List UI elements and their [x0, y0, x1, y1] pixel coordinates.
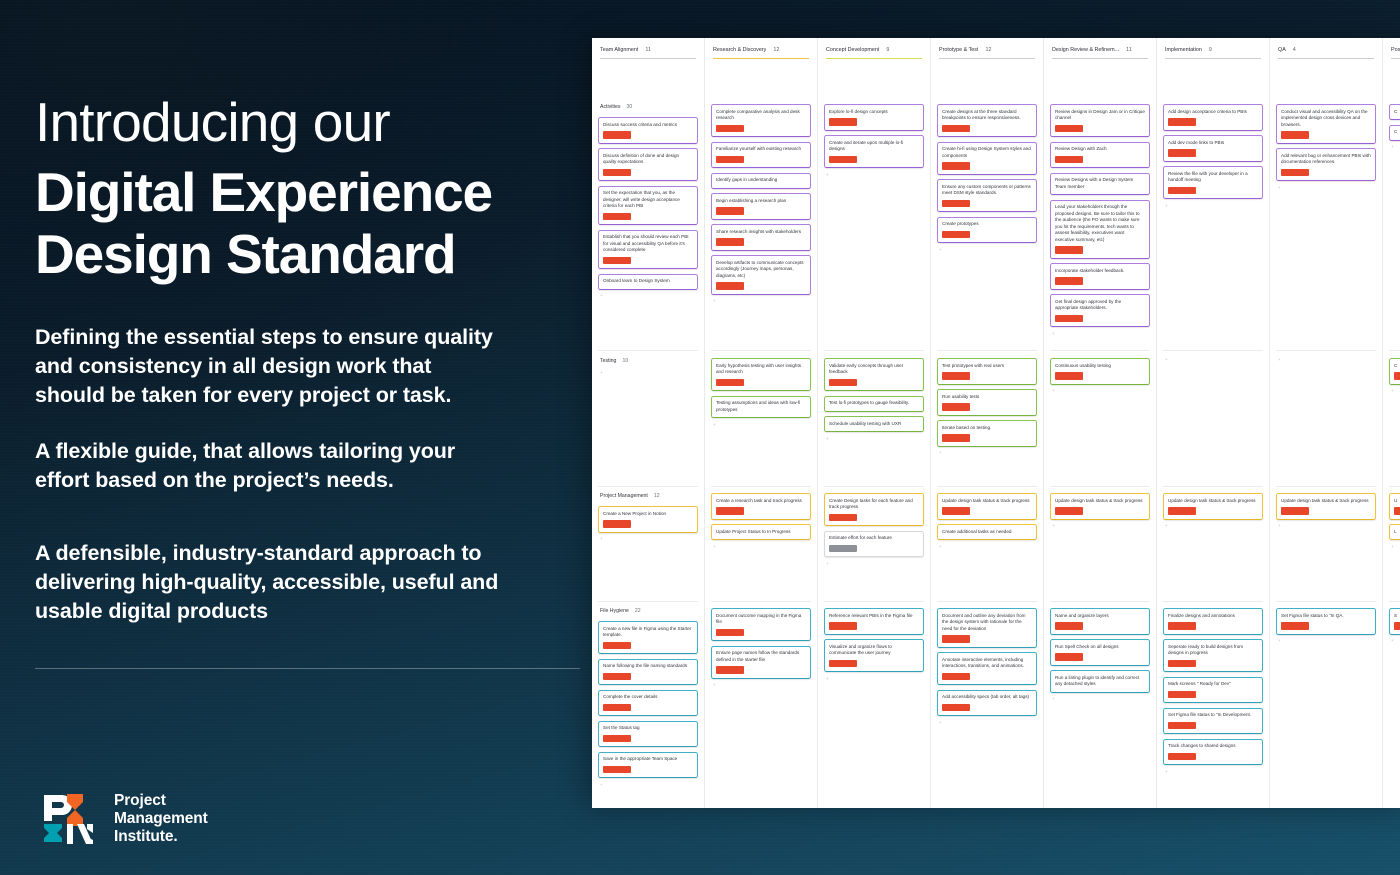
avatar-chip [1281, 507, 1309, 515]
zone-file-hygiene: Document outcome mapping in the Figma fi… [711, 608, 811, 688]
board-column[interactable]: QA4Conduct visual and accessibility QA o… [1270, 38, 1383, 808]
sticky-card[interactable]: Conduct visual and accessibility QA on t… [1276, 104, 1376, 144]
sticky-card[interactable]: Complete comparative analysis and desk r… [711, 104, 811, 137]
zone-project-management: Update design task status & track progre… [1050, 493, 1150, 529]
slide-text-panel: Introducing our Digital Experience Desig… [35, 0, 585, 875]
column-count: 11 [645, 47, 651, 53]
add-card-button[interactable]: + [1050, 524, 1150, 529]
sticky-card[interactable]: Add design acceptance criteria to PBIs [1163, 104, 1263, 131]
board-column[interactable]: Team Alignment11Activities30Discuss succ… [592, 38, 705, 808]
zone-project-management: Update design task status & track progre… [1276, 493, 1376, 529]
sticky-card[interactable]: U [1389, 493, 1400, 520]
avatar-chip [1394, 507, 1400, 515]
sticky-card-text: Set Figma file status to "In Development… [1168, 712, 1258, 719]
sticky-card[interactable]: Iterate based on testing. [937, 420, 1037, 447]
sticky-card-text: Create prototypes [942, 221, 1032, 228]
sticky-card[interactable]: Track changes to shared designs [1163, 739, 1263, 766]
sticky-card[interactable]: Run usability tests [937, 389, 1037, 416]
board-column[interactable]: Research & Discovery12Complete comparati… [705, 38, 818, 808]
add-card-button[interactable]: + [1050, 332, 1150, 337]
zone-activities: Complete comparative analysis and desk r… [711, 104, 811, 304]
sticky-card-text: Run Spell Check on all designs [1055, 644, 1145, 651]
sticky-card[interactable]: C [1389, 125, 1400, 141]
sticky-card[interactable]: Validate early concepts through user fee… [824, 358, 924, 391]
avatar-chip [603, 213, 631, 221]
sticky-card-text: Add relevant bug or enhancement PBIs wit… [1281, 153, 1371, 166]
sticky-card[interactable]: L [1389, 524, 1400, 540]
avatar-chip [1168, 660, 1196, 668]
sticky-card-text: Testing assumptions and ideas with low-f… [716, 400, 806, 413]
column-title: Concept Development [826, 47, 879, 53]
zone-testing: Testing10+ [598, 358, 698, 376]
sticky-card[interactable]: Run a linting plugin to identify and cor… [1050, 670, 1150, 693]
sticky-card[interactable]: Create a New Project in Notion [598, 506, 698, 533]
avatar-chip [603, 766, 631, 774]
sticky-card-text: Complete comparative analysis and desk r… [716, 109, 806, 122]
zone-divider [1389, 601, 1400, 602]
card-list: Explore lo-fi design conceptsCreate and … [824, 104, 924, 168]
sticky-card-text: Lead your stakeholders through the propo… [1055, 204, 1145, 243]
sticky-card-text: Annotate interactive elements, including… [942, 657, 1032, 670]
add-card-button[interactable]: + [1389, 639, 1400, 644]
avatar-chip [603, 169, 631, 177]
avatar-chip [942, 200, 970, 208]
zone-divider [824, 486, 924, 487]
card-list: Document and outline any deviation from … [937, 608, 1037, 716]
sticky-card[interactable]: Create and iterate upon multiple lo-fi d… [824, 135, 924, 168]
sticky-card-text: Create additional tasks as needed [942, 529, 1032, 536]
sticky-card-text: Create and iterate upon multiple lo-fi d… [829, 140, 919, 153]
sticky-card[interactable]: Reference relevant PBIs in the Figma fil… [824, 608, 924, 635]
add-card-button[interactable]: + [711, 299, 811, 304]
card-list: Early hypothesis testing with user insig… [711, 358, 811, 418]
avatar-chip [603, 520, 631, 528]
card-list: Create designs at the three standard bre… [937, 104, 1037, 243]
add-card-button[interactable]: + [1163, 204, 1263, 209]
zone-project-management: UL+ [1389, 493, 1400, 549]
card-list: Create a research task and track progres… [711, 493, 811, 540]
zone-file-hygiene: Name and organize layersRun Spell Check … [1050, 608, 1150, 702]
slide-paragraph-2: A flexible guide, that allows tailoring … [35, 437, 505, 494]
sticky-card[interactable]: Explore lo-fi design concepts [824, 104, 924, 131]
sticky-card[interactable]: Identify gaps in understanding [711, 173, 811, 189]
card-list: Document outcome mapping in the Figma fi… [711, 608, 811, 679]
avatar-chip [716, 238, 744, 246]
sticky-card-text: Early hypothesis testing with user insig… [716, 363, 806, 376]
sticky-card[interactable]: Complete the cover details [598, 690, 698, 717]
card-list: Finalize designs and annotationsSeperate… [1163, 608, 1263, 765]
add-card-button[interactable]: + [1050, 389, 1150, 394]
sticky-card[interactable]: Estimate effort for each feature [824, 531, 924, 558]
sticky-card[interactable]: C [1389, 358, 1400, 385]
sticky-card[interactable]: Review the file with your developer in a… [1163, 166, 1263, 199]
column-accent-rule [826, 58, 922, 59]
board-column[interactable]: Prototype & Test12Create designs at the … [931, 38, 1044, 808]
zone-divider [1276, 601, 1376, 602]
sticky-card-text: Name following the file naming standards [603, 663, 693, 670]
sticky-card[interactable]: Update design task status & track progre… [1163, 493, 1263, 520]
sticky-card-text: Onboard team to Design System [603, 278, 693, 285]
add-card-button[interactable]: + [1163, 770, 1263, 775]
sticky-card-text: Iterate based on testing. [942, 425, 1032, 432]
board-column[interactable]: PostCC+C+UL+S+ [1383, 38, 1400, 808]
add-card-button[interactable]: + [1276, 639, 1376, 644]
sticky-card[interactable]: Set Figma file status to "In Development… [1163, 708, 1263, 735]
add-card-button[interactable]: + [1163, 358, 1263, 363]
sticky-card[interactable]: Name following the file naming standards [598, 659, 698, 686]
column-accent-rule [939, 58, 1035, 59]
sticky-card[interactable]: Create additional tasks as needed [937, 524, 1037, 540]
sticky-card[interactable]: Update design task status & track progre… [1276, 493, 1376, 520]
zone-testing: + [1163, 358, 1263, 363]
sticky-card[interactable]: Update design task status & track progre… [1050, 493, 1150, 520]
avatar-chip [603, 704, 631, 712]
sticky-card-text: Name and organize layers [1055, 613, 1145, 620]
sticky-card[interactable]: Seperate ready to build designs from des… [1163, 639, 1263, 672]
sticky-card[interactable]: Test prototypes with real users [937, 358, 1037, 385]
figjam-board[interactable]: Team Alignment11Activities30Discuss succ… [592, 38, 1400, 808]
avatar-chip [942, 125, 970, 133]
sticky-card-text: Set the expectation that you, as the des… [603, 190, 693, 210]
sticky-card-text: Review Design with Zach [1055, 146, 1145, 153]
avatar-chip [1168, 507, 1196, 515]
add-card-button[interactable]: + [1276, 186, 1376, 191]
avatar-chip [1168, 622, 1196, 630]
add-card-button[interactable]: + [1276, 358, 1376, 363]
sticky-card[interactable]: Establish that you should review each PB… [598, 230, 698, 270]
sticky-card-text: Document outcome mapping in the Figma fi… [716, 613, 806, 626]
board-column[interactable]: Design Review & Refinem...11Review desig… [1044, 38, 1157, 808]
zone-file-hygiene: Finalize designs and annotationsSeperate… [1163, 608, 1263, 774]
zone-title: Activities [600, 104, 620, 110]
add-card-button[interactable]: + [824, 437, 924, 442]
sticky-card[interactable]: Add accessibility specs (tab order, alt … [937, 690, 1037, 717]
sticky-card-text: U [1394, 498, 1400, 505]
sticky-card[interactable]: Familiarize yourself with existing resea… [711, 142, 811, 169]
sticky-card[interactable]: Save in the appropriate Team Space [598, 752, 698, 779]
add-card-button[interactable]: + [824, 173, 924, 178]
sticky-card-text: Review the file with your developer in a… [1168, 171, 1258, 184]
card-list: Create Design tasks for each feature and… [824, 493, 924, 557]
zone-count: 30 [626, 104, 632, 110]
zone-divider [1050, 350, 1150, 351]
zone-divider [1163, 486, 1263, 487]
column-count: 9 [1209, 47, 1212, 53]
sticky-card[interactable]: C [1389, 104, 1400, 120]
sticky-card-text: Create a New Project in Notion [603, 511, 693, 518]
sticky-card-text: Establish that you should review each PB… [603, 234, 693, 254]
avatar-chip [1055, 372, 1083, 380]
zone-count: 12 [654, 493, 660, 499]
avatar-chip [1055, 315, 1083, 323]
zone-divider [1389, 350, 1400, 351]
zone-testing: Validate early concepts through user fee… [824, 358, 924, 441]
add-card-button[interactable]: + [937, 451, 1037, 456]
zone-divider [711, 486, 811, 487]
sticky-card[interactable]: Document outcome mapping in the Figma fi… [711, 608, 811, 641]
column-header: Research & Discovery12 [711, 38, 811, 53]
sticky-card[interactable]: Name and organize layers [1050, 608, 1150, 635]
zone-testing: + [1276, 358, 1376, 363]
zone-divider [937, 601, 1037, 602]
sticky-card[interactable]: Ensure page names follow the standards d… [711, 646, 811, 679]
avatar-chip [942, 231, 970, 239]
sticky-card-text: Seperate ready to build designs from des… [1168, 644, 1258, 657]
zone-divider [1276, 350, 1376, 351]
sticky-card[interactable]: Share research insights with stakeholder… [711, 224, 811, 251]
sticky-card[interactable]: Test lo-fi prototypes to gauge feasibili… [824, 396, 924, 412]
sticky-card[interactable]: Create hi-fi using Design System styles … [937, 142, 1037, 175]
zone-title: Testing [600, 358, 616, 364]
sticky-card[interactable]: Begin establishing a research plan [711, 193, 811, 220]
zone-divider [1050, 601, 1150, 602]
zone-testing: Early hypothesis testing with user insig… [711, 358, 811, 427]
sticky-card-text: Update design task status & track progre… [1168, 498, 1258, 505]
card-list [598, 364, 698, 371]
sticky-card[interactable]: Review Design with Zach [1050, 142, 1150, 169]
sticky-card[interactable]: Update Project Status to In Progress [711, 524, 811, 540]
sticky-card-text: Estimate effort for each feature [829, 535, 919, 542]
sticky-card[interactable]: Add dev mode links to PBIs [1163, 135, 1263, 162]
zone-divider [1163, 601, 1263, 602]
add-card-button[interactable]: + [1050, 697, 1150, 702]
board-column[interactable]: Concept Development9Explore lo-fi design… [818, 38, 931, 808]
sticky-card-text: Run usability tests [942, 394, 1032, 401]
column-count: 9 [886, 47, 889, 53]
sticky-card[interactable]: Mark screens " Ready for Dev" [1163, 677, 1263, 704]
avatar-chip [1055, 156, 1083, 164]
sticky-card-text: L [1394, 529, 1400, 536]
zone-divider [824, 601, 924, 602]
add-card-button[interactable]: + [711, 423, 811, 428]
slide-eyebrow: Introducing our [35, 93, 585, 151]
board-column[interactable]: Implementation9Add design acceptance cri… [1157, 38, 1270, 808]
add-card-button[interactable]: + [937, 248, 1037, 253]
add-card-button[interactable]: + [824, 677, 924, 682]
avatar-chip [1055, 277, 1083, 285]
sticky-card-text: Schedule usability testing with UXR [829, 421, 919, 428]
column-header: Post [1389, 38, 1400, 53]
sticky-card[interactable]: Set the Status tag [598, 721, 698, 748]
sticky-card[interactable]: Set Figma file status to "In QA. [1276, 608, 1376, 635]
sticky-card[interactable]: Testing assumptions and ideas with low-f… [711, 396, 811, 419]
card-list: C [1389, 358, 1400, 385]
sticky-card[interactable]: Set the expectation that you, as the des… [598, 186, 698, 226]
sticky-card-text: Familiarize yourself with existing resea… [716, 146, 806, 153]
avatar-chip [1394, 622, 1400, 630]
sticky-card-text: Identify gaps in understanding [716, 177, 806, 184]
sticky-card[interactable]: Visualize and organize flows to communic… [824, 639, 924, 672]
sticky-card[interactable]: Ensure any custom components or patterns… [937, 179, 1037, 212]
sticky-card[interactable]: Run Spell Check on all designs [1050, 639, 1150, 666]
sticky-card-text: Set Figma file status to "In QA. [1281, 613, 1371, 620]
card-list: Add design acceptance criteria to PBIsAd… [1163, 104, 1263, 199]
zone-project-management: Update design task status & track progre… [1163, 493, 1263, 529]
zone-count: 22 [635, 608, 641, 614]
add-card-button[interactable]: + [598, 294, 698, 299]
sticky-card-text: C [1394, 109, 1400, 116]
column-accent-rule [713, 58, 809, 59]
sticky-card[interactable]: Develop artifacts to communicate concept… [711, 255, 811, 295]
sticky-card-text: Complete the cover details [603, 694, 693, 701]
add-card-button[interactable]: + [598, 537, 698, 542]
avatar-chip [1055, 622, 1083, 630]
sticky-card-text: Continuous usability testing [1055, 363, 1145, 370]
zone-activities: Explore lo-fi design conceptsCreate and … [824, 104, 924, 177]
zone-file-hygiene: Reference relevant PBIs in the Figma fil… [824, 608, 924, 681]
zone-divider [937, 486, 1037, 487]
zone-divider [711, 601, 811, 602]
sticky-card-text: Ensure page names follow the standards d… [716, 650, 806, 663]
avatar-chip [829, 545, 857, 553]
sticky-card-text: Incorporate stakeholder feedback. [1055, 268, 1145, 275]
sticky-card[interactable]: Document and outline any deviation from … [937, 608, 1037, 648]
add-card-button[interactable]: + [1389, 145, 1400, 150]
avatar-chip [603, 131, 631, 139]
avatar-chip [716, 629, 744, 637]
avatar-chip [1055, 246, 1083, 254]
sticky-card-text: Set the Status tag [603, 725, 693, 732]
avatar-chip [942, 635, 970, 643]
card-list: Reference relevant PBIs in the Figma fil… [824, 608, 924, 672]
add-card-button[interactable]: + [937, 721, 1037, 726]
sticky-card-text: Discuss success criteria and metrics [603, 122, 693, 129]
sticky-card-text: Finalize designs and annotations [1168, 613, 1258, 620]
card-list: Continuous usability testing [1050, 358, 1150, 385]
zone-activities: CC+ [1389, 104, 1400, 150]
card-list: Test prototypes with real usersRun usabi… [937, 358, 1037, 447]
zone-activities: Activities30Discuss success criteria and… [598, 104, 698, 299]
sticky-card-text: Reference relevant PBIs in the Figma fil… [829, 613, 919, 620]
avatar-chip [829, 156, 857, 164]
sticky-card-text: Visualize and organize flows to communic… [829, 644, 919, 657]
column-header: Concept Development9 [824, 38, 924, 53]
column-header: Implementation9 [1163, 38, 1263, 53]
sticky-card[interactable]: Create a new file in Figma using the Sta… [598, 621, 698, 654]
add-card-button[interactable]: + [598, 371, 698, 376]
zone-project-management: Create Design tasks for each feature and… [824, 493, 924, 566]
zone-divider [711, 350, 811, 351]
avatar-chip [716, 207, 744, 215]
sticky-card[interactable]: S [1389, 608, 1400, 635]
sticky-card[interactable]: Discuss success criteria and metrics [598, 117, 698, 144]
card-list: Update design task status & track progre… [1276, 493, 1376, 520]
sticky-card[interactable]: Onboard team to Design System [598, 274, 698, 290]
zone-testing: Test prototypes with real usersRun usabi… [937, 358, 1037, 456]
card-list: Name and organize layersRun Spell Check … [1050, 608, 1150, 693]
sticky-card[interactable]: Schedule usability testing with UXR [824, 416, 924, 432]
avatar-chip [603, 642, 631, 650]
sticky-card[interactable]: Discuss definition of done and design qu… [598, 148, 698, 181]
sticky-card[interactable]: Review designs in Design Jam or in Criti… [1050, 104, 1150, 137]
sticky-card[interactable]: Update design task status & track progre… [937, 493, 1037, 520]
sticky-card[interactable]: Finalize designs and annotations [1163, 608, 1263, 635]
avatar-chip [716, 156, 744, 164]
sticky-card-text: Conduct visual and accessibility QA on t… [1281, 109, 1371, 129]
sticky-card-text: Share research insights with stakeholder… [716, 229, 806, 236]
sticky-card-text: Update design task status & track progre… [1281, 498, 1371, 505]
sticky-card[interactable]: Review Designs with a Design System Team… [1050, 173, 1150, 196]
avatar-chip [1281, 622, 1309, 630]
sticky-card[interactable]: Create prototypes [937, 217, 1037, 244]
avatar-chip [716, 125, 744, 133]
sticky-card-text: Create a new file in Figma using the Sta… [603, 626, 693, 639]
avatar-chip [603, 735, 631, 743]
sticky-card[interactable]: Continuous usability testing [1050, 358, 1150, 385]
column-title: Post [1391, 47, 1400, 53]
avatar-chip [1168, 118, 1196, 126]
zone-project-management: Project Management12Create a New Project… [598, 493, 698, 542]
zone-divider [1050, 486, 1150, 487]
zone-divider [1276, 486, 1376, 487]
zone-divider [1163, 350, 1263, 351]
add-card-button[interactable]: + [1276, 524, 1376, 529]
add-card-button[interactable]: + [711, 545, 811, 550]
avatar-chip [829, 118, 857, 126]
zone-divider [824, 350, 924, 351]
zone-divider [598, 486, 698, 487]
sticky-card-text: Begin establishing a research plan [716, 198, 806, 205]
sticky-card[interactable]: Create Design tasks for each feature and… [824, 493, 924, 526]
sticky-card[interactable]: Add relevant bug or enhancement PBIs wit… [1276, 148, 1376, 181]
zone-activities: Create designs at the three standard bre… [937, 104, 1037, 252]
sticky-card-text: Create Design tasks for each feature and… [829, 498, 919, 511]
sticky-card-text: Save in the appropriate Team Space [603, 756, 693, 763]
card-list: Review designs in Design Jam or in Criti… [1050, 104, 1150, 327]
avatar-chip [1168, 722, 1196, 730]
add-card-button[interactable]: + [1389, 389, 1400, 394]
card-list: Create a new file in Figma using the Sta… [598, 614, 698, 778]
sticky-card-text: Update Project Status to In Progress [716, 529, 806, 536]
avatar-chip [942, 372, 970, 380]
add-card-button[interactable]: + [598, 783, 698, 788]
card-list: CC [1389, 104, 1400, 141]
card-list: Discuss success criteria and metricsDisc… [598, 110, 698, 290]
sticky-card-text: Update design task status & track progre… [1055, 498, 1145, 505]
sticky-card[interactable]: Create designs at the three standard bre… [937, 104, 1037, 137]
zone-file-hygiene: Set Figma file status to "In QA.+ [1276, 608, 1376, 644]
zone-activities: Conduct visual and accessibility QA on t… [1276, 104, 1376, 190]
avatar-chip [942, 704, 970, 712]
sticky-card[interactable]: Create a research task and track progres… [711, 493, 811, 520]
card-list: UL [1389, 493, 1400, 540]
sticky-card[interactable]: Early hypothesis testing with user insig… [711, 358, 811, 391]
column-accent-rule [1391, 58, 1400, 59]
column-title: QA [1278, 47, 1286, 53]
column-header: Team Alignment11 [598, 38, 698, 53]
sticky-card[interactable]: Get final design approved by the appropr… [1050, 294, 1150, 327]
add-card-button[interactable]: + [1389, 545, 1400, 550]
add-card-button[interactable]: + [824, 562, 924, 567]
card-list: Update design task status & track progre… [1163, 493, 1263, 520]
zone-activities: Review designs in Design Jam or in Criti… [1050, 104, 1150, 336]
add-card-button[interactable]: + [1163, 524, 1263, 529]
avatar-chip [942, 162, 970, 170]
avatar-chip [1168, 187, 1196, 195]
avatar-chip [942, 403, 970, 411]
sticky-card[interactable]: Lead your stakeholders through the propo… [1050, 200, 1150, 259]
zone-divider [1389, 486, 1400, 487]
avatar-chip [716, 282, 744, 290]
add-card-button[interactable]: + [937, 545, 1037, 550]
zone-activities: Add design acceptance criteria to PBIsAd… [1163, 104, 1263, 208]
sticky-card[interactable]: Incorporate stakeholder feedback. [1050, 263, 1150, 290]
sticky-card-text: Ensure any custom components or patterns… [942, 184, 1032, 197]
avatar-chip [1168, 753, 1196, 761]
avatar-chip [603, 257, 631, 265]
add-card-button[interactable]: + [711, 683, 811, 688]
sticky-card[interactable]: Annotate interactive elements, including… [937, 652, 1037, 685]
